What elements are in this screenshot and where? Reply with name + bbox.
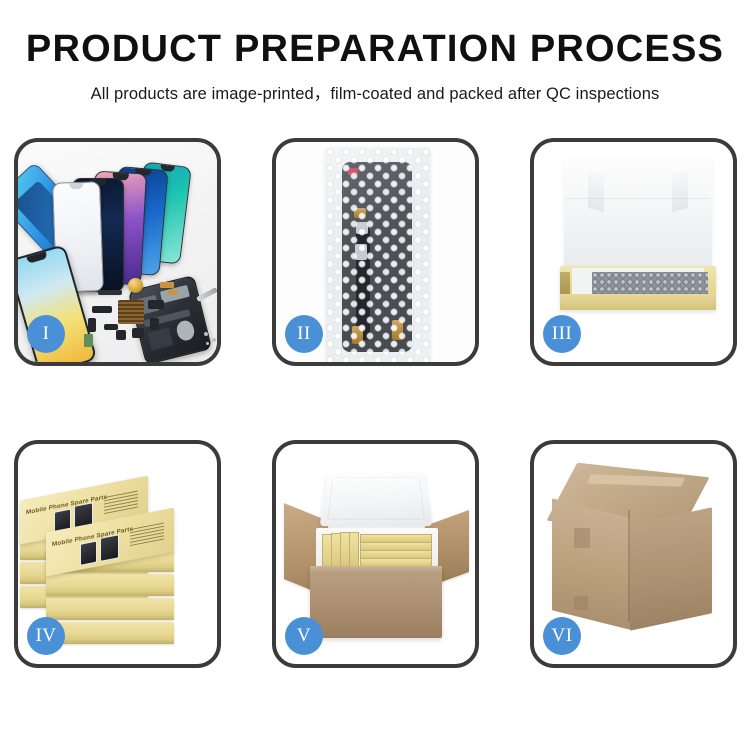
yellow-box-slab-4	[349, 532, 359, 568]
foam-cooler-rim	[327, 477, 425, 520]
part-strip-1	[98, 290, 122, 295]
retail-box-spec-lines-back	[104, 490, 138, 515]
carton-corner-seam	[628, 510, 630, 622]
part-bracket-1	[88, 318, 96, 332]
part-screw-1	[204, 332, 208, 336]
bubble-wrap-texture	[326, 148, 430, 362]
foam-lid-flap-right	[672, 170, 688, 212]
carton-right-face	[630, 507, 712, 630]
step-badge-2: II	[285, 315, 323, 353]
process-step-panel-4[interactable]: Mobile Phone Spare Parts Mobile Phone Sp…	[14, 440, 221, 668]
retail-box-thumb-front-2	[100, 534, 119, 562]
process-steps-grid: I II	[14, 138, 737, 668]
gray-bubble-wrap-fill	[592, 272, 708, 296]
page-header: PRODUCT PREPARATION PROCESS All products…	[0, 0, 750, 104]
process-step-panel-1[interactable]: I	[14, 138, 221, 366]
kraft-box-front	[560, 294, 716, 310]
part-chip	[148, 300, 164, 309]
part-screw-3	[206, 342, 209, 345]
process-step-panel-5[interactable]: V	[272, 440, 479, 668]
foam-lid	[564, 158, 712, 268]
part-screw-2	[212, 338, 216, 342]
part-flex-cable-1	[160, 282, 174, 288]
step-badge-5: V	[285, 617, 323, 655]
retail-box-thumb-front-1	[80, 541, 97, 566]
step-badge-4: IV	[27, 617, 65, 655]
part-button-flex	[92, 306, 112, 313]
kraft-box-tray	[560, 266, 716, 310]
part-bracket-2	[104, 324, 118, 330]
foam-lid-flap-left	[588, 170, 604, 212]
process-step-panel-3[interactable]: III	[530, 138, 737, 366]
step-badge-1: I	[27, 315, 65, 353]
bubble-wrap-bag	[326, 148, 430, 362]
retail-box-front-3	[46, 598, 174, 620]
sealed-shipping-carton	[552, 470, 718, 630]
part-flex-cable-2	[168, 290, 178, 295]
page-subtitle: All products are image-printed，film-coat…	[0, 80, 750, 104]
retail-box-front-2	[46, 574, 174, 596]
carton-rim	[310, 566, 442, 575]
part-connector-grid	[118, 300, 144, 324]
part-sim-tray	[150, 318, 159, 330]
process-step-panel-6[interactable]: VI	[530, 440, 737, 668]
part-green-board	[84, 334, 93, 347]
yellow-boxes-inside-carton	[322, 532, 432, 568]
part-speaker	[116, 330, 126, 340]
page-title: PRODUCT PREPARATION PROCESS	[0, 30, 750, 70]
step-badge-6: VI	[543, 617, 581, 655]
foam-cooler-lid	[320, 472, 433, 526]
carton-body	[310, 566, 442, 638]
part-vibrator	[132, 328, 144, 338]
carton-left-face	[552, 498, 630, 629]
carton-tab-upper	[574, 528, 590, 548]
carton-tab-lower	[574, 596, 588, 610]
step-badge-3: III	[543, 315, 581, 353]
foam-tray-liner	[572, 268, 704, 296]
foam-lid-crease	[566, 198, 710, 199]
retail-box-spec-lines-front	[130, 522, 164, 547]
process-step-panel-2[interactable]: II	[272, 138, 479, 366]
part-camera-ring	[128, 278, 143, 293]
retail-box-front-4	[46, 622, 174, 644]
